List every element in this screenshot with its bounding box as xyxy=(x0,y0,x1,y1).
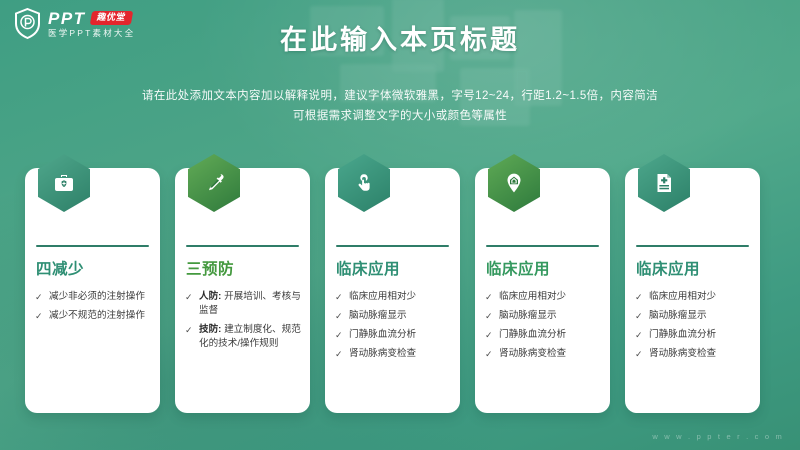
medical-report-icon xyxy=(652,171,676,195)
card-item[interactable]: 临床应用 ✓ 临床应用相对少 ✓ 脑动脉瘤显示 ✓ 门静脉血流分析 ✓ 肾动脉病… xyxy=(475,168,610,413)
card-icon-badge xyxy=(488,154,540,212)
list-item: ✓ 临床应用相对少 xyxy=(335,290,453,304)
card-icon-badge xyxy=(338,154,390,212)
subtitle-line-1: 请在此处添加文本内容加以解释说明，建议字体微软雅黑，字号12~24，行距1.2~… xyxy=(0,86,800,106)
check-icon: ✓ xyxy=(35,290,44,304)
list-item: ✓ 临床应用相对少 xyxy=(485,290,603,304)
card-row: 四减少 ✓ 减少非必须的注射操作 ✓ 减少不规范的注射操作 xyxy=(25,168,775,413)
list-item-text: 肾动脉病变检查 xyxy=(499,347,603,361)
card-icon-badge xyxy=(38,154,90,212)
card-title: 四减少 xyxy=(36,261,84,280)
check-icon: ✓ xyxy=(635,309,644,323)
list-item: ✓ 门静脉血流分析 xyxy=(335,328,453,342)
subtitle-line-2: 可根据需求调整文字的大小或颜色等属性 xyxy=(0,106,800,126)
list-item-text: 减少非必须的注射操作 xyxy=(49,290,153,304)
check-icon: ✓ xyxy=(335,309,344,323)
check-icon: ✓ xyxy=(635,290,644,304)
dropper-icon xyxy=(202,171,226,195)
check-icon: ✓ xyxy=(485,328,494,342)
check-icon: ✓ xyxy=(185,323,194,337)
list-item-text: 临床应用相对少 xyxy=(349,290,453,304)
list-item-text: 肾动脉病变检查 xyxy=(649,347,753,361)
list-item: ✓ 减少非必须的注射操作 xyxy=(35,290,153,304)
card-divider xyxy=(186,245,299,247)
card-divider xyxy=(36,245,149,247)
check-icon: ✓ xyxy=(35,309,44,323)
card-item[interactable]: 临床应用 ✓ 临床应用相对少 ✓ 脑动脉瘤显示 ✓ 门静脉血流分析 ✓ 肾动脉病… xyxy=(625,168,760,413)
check-icon: ✓ xyxy=(335,347,344,361)
location-pin-home-icon xyxy=(502,171,526,195)
list-item-text: 门静脉血流分析 xyxy=(499,328,603,342)
card-title: 临床应用 xyxy=(486,261,550,280)
card-list: ✓ 人防: 开展培训、考核与监督 ✓ 技防: 建立制度化、规范化的技术/操作规则 xyxy=(185,290,303,356)
card-item[interactable]: 临床应用 ✓ 临床应用相对少 ✓ 脑动脉瘤显示 ✓ 门静脉血流分析 ✓ 肾动脉病… xyxy=(325,168,460,413)
hexagon-shape xyxy=(338,154,390,212)
card-icon-badge xyxy=(638,154,690,212)
list-item: ✓ 减少不规范的注射操作 xyxy=(35,309,153,323)
list-item: ✓ 临床应用相对少 xyxy=(635,290,753,304)
medical-bag-icon xyxy=(52,171,76,195)
card-divider xyxy=(486,245,599,247)
list-item-text: 肾动脉病变检查 xyxy=(349,347,453,361)
list-item-text: 门静脉血流分析 xyxy=(349,328,453,342)
hexagon-shape xyxy=(38,154,90,212)
list-item-text: 脑动脉瘤显示 xyxy=(499,309,603,323)
list-item-text: 脑动脉瘤显示 xyxy=(349,309,453,323)
list-item-text: 临床应用相对少 xyxy=(649,290,753,304)
list-item-text: 技防: 建立制度化、规范化的技术/操作规则 xyxy=(199,323,303,351)
list-item: ✓ 技防: 建立制度化、规范化的技术/操作规则 xyxy=(185,323,303,351)
list-item: ✓ 门静脉血流分析 xyxy=(635,328,753,342)
card-title: 临床应用 xyxy=(336,261,400,280)
list-item-prefix: 人防: xyxy=(199,291,221,302)
check-icon: ✓ xyxy=(485,309,494,323)
list-item: ✓ 肾动脉病变检查 xyxy=(335,347,453,361)
list-item: ✓ 肾动脉病变检查 xyxy=(635,347,753,361)
page-subtitle: 请在此处添加文本内容加以解释说明，建议字体微软雅黑，字号12~24，行距1.2~… xyxy=(0,86,800,126)
page-title: 在此输入本页标题 xyxy=(0,18,800,57)
hexagon-shape xyxy=(638,154,690,212)
list-item: ✓ 门静脉血流分析 xyxy=(485,328,603,342)
list-item-text: 人防: 开展培训、考核与监督 xyxy=(199,290,303,318)
check-icon: ✓ xyxy=(485,347,494,361)
list-item: ✓ 脑动脉瘤显示 xyxy=(635,309,753,323)
check-icon: ✓ xyxy=(635,347,644,361)
list-item-text: 临床应用相对少 xyxy=(499,290,603,304)
check-icon: ✓ xyxy=(635,328,644,342)
card-item[interactable]: 四减少 ✓ 减少非必须的注射操作 ✓ 减少不规范的注射操作 xyxy=(25,168,160,413)
hexagon-shape xyxy=(488,154,540,212)
card-list: ✓ 临床应用相对少 ✓ 脑动脉瘤显示 ✓ 门静脉血流分析 ✓ 肾动脉病变检查 xyxy=(485,290,603,366)
card-title: 临床应用 xyxy=(636,261,700,280)
list-item-text: 减少不规范的注射操作 xyxy=(49,309,153,323)
hexagon-shape xyxy=(188,154,240,212)
list-item: ✓ 人防: 开展培训、考核与监督 xyxy=(185,290,303,318)
check-icon: ✓ xyxy=(485,290,494,304)
card-list: ✓ 减少非必须的注射操作 ✓ 减少不规范的注射操作 xyxy=(35,290,153,328)
list-item-prefix: 技防: xyxy=(199,324,221,335)
card-list: ✓ 临床应用相对少 ✓ 脑动脉瘤显示 ✓ 门静脉血流分析 ✓ 肾动脉病变检查 xyxy=(635,290,753,366)
list-item-text: 门静脉血流分析 xyxy=(649,328,753,342)
card-divider xyxy=(636,245,749,247)
card-icon-badge xyxy=(188,154,240,212)
list-item-text: 脑动脉瘤显示 xyxy=(649,309,753,323)
list-item: ✓ 肾动脉病变检查 xyxy=(485,347,603,361)
card-title: 三预防 xyxy=(186,261,234,280)
list-item: ✓ 脑动脉瘤显示 xyxy=(335,309,453,323)
card-divider xyxy=(336,245,449,247)
check-icon: ✓ xyxy=(185,290,194,304)
hand-touch-icon xyxy=(352,171,376,195)
check-icon: ✓ xyxy=(335,290,344,304)
list-item: ✓ 脑动脉瘤显示 xyxy=(485,309,603,323)
site-watermark: w w w . p p t e r . c o m xyxy=(652,432,784,441)
slide-canvas: PPT 趣优堂 医学PPT素材大全 在此输入本页标题 请在此处添加文本内容加以解… xyxy=(0,0,800,450)
card-item[interactable]: 三预防 ✓ 人防: 开展培训、考核与监督 ✓ 技防: 建立制度化、规范化的技术/… xyxy=(175,168,310,413)
card-list: ✓ 临床应用相对少 ✓ 脑动脉瘤显示 ✓ 门静脉血流分析 ✓ 肾动脉病变检查 xyxy=(335,290,453,366)
check-icon: ✓ xyxy=(335,328,344,342)
